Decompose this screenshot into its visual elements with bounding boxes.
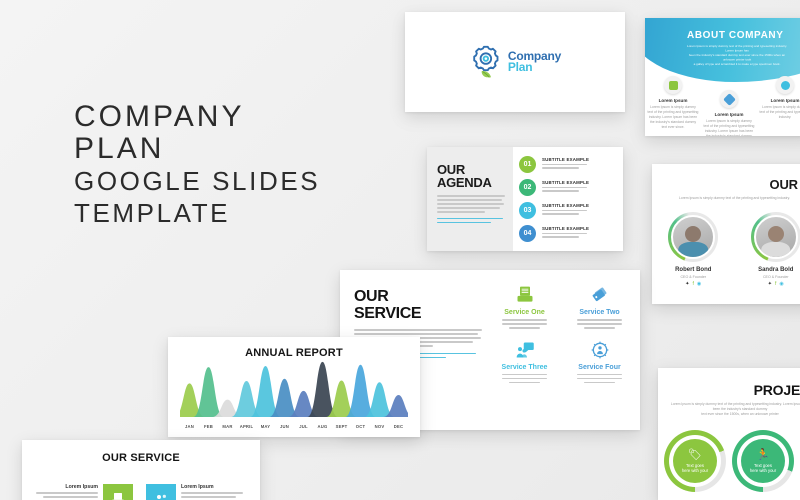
list-item[interactable]: 02 SUBTITLE EXAMPLE: [519, 179, 617, 196]
monitor-icon: [664, 76, 682, 94]
team-title: OUR T: [770, 177, 800, 192]
about-column-heading: Lorem Ipsum: [703, 112, 755, 117]
instagram-icon[interactable]: ◉: [697, 282, 701, 287]
title-line-2: PLAN: [74, 133, 374, 165]
chart-x-label: APRIL: [237, 424, 256, 429]
ring-text-line-2: here with your: [682, 468, 708, 473]
title-line-4: TEMPLATE: [74, 197, 374, 229]
title-line-1: COMPANY: [74, 101, 374, 133]
service-name: Service Four: [565, 364, 634, 371]
tag-icon: 🏷: [688, 450, 702, 461]
about-column[interactable]: Lorem Ipsum Lorem Ipsum is simply dummy …: [759, 76, 800, 136]
team-member-list: Robert Bond CEO & Founder ✦ f ◉ Sandra B…: [652, 212, 800, 287]
presentation-mockup-canvas: COMPANY PLAN GOOGLE SLIDES TEMPLATE Comp…: [0, 0, 800, 500]
agenda-item-subtitle: SUBTITLE EXAMPLE: [542, 157, 589, 162]
list-item[interactable]: 01 SUBTITLE EXAMPLE: [519, 156, 617, 173]
about-column[interactable]: Lorem Ipsum Lorem Ipsum is simply dummy …: [647, 76, 699, 136]
list-item[interactable]: Lorem Ipsum: [146, 484, 243, 500]
ring-text-line-2: here with your: [750, 468, 776, 473]
social-links: ✦ f ◉: [745, 282, 800, 287]
chat-users-icon: [490, 339, 559, 361]
service-bottom-heading: Lorem Ipsum: [36, 484, 98, 490]
gear-person-icon: [565, 339, 634, 361]
service-title-line-1: OUR: [354, 288, 482, 305]
chart-x-label: SEPT: [332, 424, 351, 429]
twitter-icon[interactable]: ✦: [768, 282, 772, 287]
chart-x-label: DEC: [389, 424, 408, 429]
service-name: Service One: [490, 309, 559, 316]
service-bottom-heading: Lorem Ipsum: [181, 484, 243, 490]
list-item[interactable]: Lorem Ipsum: [36, 484, 133, 500]
team-member-role: CEO & Founder: [745, 275, 800, 279]
list-item[interactable]: Service One: [490, 284, 559, 329]
chat-users-icon: [146, 484, 176, 500]
avatar-progress-ring: [668, 212, 718, 262]
team-subtitle: Lorem Ipsum is simply dummy text of the …: [660, 196, 800, 201]
instagram-icon[interactable]: ◉: [779, 282, 783, 287]
logo-line-2: Plan: [508, 62, 561, 73]
agenda-title-line-2: AGENDA: [437, 176, 505, 189]
agenda-body-text: [437, 195, 505, 223]
list-item[interactable]: 🏃 Text goes here with your: [732, 430, 794, 492]
twitter-icon[interactable]: ✦: [685, 282, 689, 287]
project-subtitle: Lorem Ipsum is simply dummy text of the …: [668, 402, 800, 417]
avatar: [754, 215, 798, 259]
avatar: [671, 215, 715, 259]
tag-icon: [720, 90, 738, 108]
chart-x-label: OCT: [351, 424, 370, 429]
service-name: Service Three: [490, 364, 559, 371]
slide-our-agenda[interactable]: OUR AGENDA 01 SUBTITLE EXAMPLE 02: [427, 147, 623, 251]
slide-project[interactable]: PROJEC Lorem Ipsum is simply dummy text …: [658, 368, 800, 500]
team-member-name: Robert Bond: [662, 267, 724, 273]
project-ring-list: 🏷 Text goes here with your 🏃 Text goes h…: [664, 430, 794, 492]
slide-about-company[interactable]: ABOUT COMPANY Lorem Ipsum is simply dumm…: [645, 18, 800, 136]
agenda-item-subtitle: SUBTITLE EXAMPLE: [542, 226, 589, 231]
service-name: Service Two: [565, 309, 634, 316]
printer-icon: [490, 284, 559, 306]
chart-x-label: MAY: [256, 424, 275, 429]
tags-icon: [565, 284, 634, 306]
runner-icon: 🏃: [756, 450, 770, 461]
service-grid: Service One Service Two Service Three: [490, 284, 634, 383]
team-member-name: Sandra Bold: [745, 267, 800, 273]
about-columns: Lorem Ipsum Lorem Ipsum is simply dummy …: [645, 76, 800, 136]
facebook-icon[interactable]: f: [775, 282, 776, 287]
list-item[interactable]: 04 SUBTITLE EXAMPLE: [519, 225, 617, 242]
slide-our-team[interactable]: OUR T Lorem Ipsum is simply dummy text o…: [652, 164, 800, 304]
list-item[interactable]: Robert Bond CEO & Founder ✦ f ◉: [662, 212, 724, 287]
gear-leaf-icon: [469, 45, 503, 79]
agenda-item-list: 01 SUBTITLE EXAMPLE 02 SUBTITLE EXAMPLE …: [519, 156, 617, 248]
about-column[interactable]: Lorem Ipsum Lorem Ipsum is simply dummy …: [703, 90, 755, 136]
agenda-left-panel: OUR AGENDA: [427, 147, 513, 251]
agenda-number-badge: 04: [519, 225, 536, 242]
service-title-line-2: SERVICE: [354, 305, 482, 322]
list-item[interactable]: Service Two: [565, 284, 634, 329]
service-bottom-title: OUR SERVICE: [22, 452, 260, 464]
agenda-number-badge: 01: [519, 156, 536, 173]
agenda-number-badge: 02: [519, 179, 536, 196]
list-item[interactable]: Service Three: [490, 339, 559, 384]
annual-report-chart: [180, 357, 408, 417]
title-line-3: GOOGLE SLIDES: [74, 165, 374, 197]
slide-annual-report[interactable]: ANNUAL REPORT JANFEBMARAPRILMAYJUNJULAUG…: [168, 337, 420, 437]
chart-x-label: AUG: [313, 424, 332, 429]
gear-icon: [776, 76, 794, 94]
slide-our-service-bottom[interactable]: OUR SERVICE Lorem Ipsum Lorem Ipsum: [22, 440, 260, 500]
chart-x-axis-labels: JANFEBMARAPRILMAYJUNJULAUGSEPTOCTNOVDEC: [180, 424, 408, 429]
agenda-item-subtitle: SUBTITLE EXAMPLE: [542, 203, 589, 208]
chart-x-label: FEB: [199, 424, 218, 429]
about-column-heading: Lorem Ipsum: [759, 98, 800, 103]
about-title: ABOUT COMPANY: [687, 30, 784, 41]
team-member-role: CEO & Founder: [662, 275, 724, 279]
chart-x-label: JUL: [294, 424, 313, 429]
chart-x-label: NOV: [370, 424, 389, 429]
avatar-progress-ring: [751, 212, 800, 262]
list-item[interactable]: Service Four: [565, 339, 634, 384]
list-item[interactable]: 🏷 Text goes here with your: [664, 430, 726, 492]
list-item[interactable]: 03 SUBTITLE EXAMPLE: [519, 202, 617, 219]
slide-cover[interactable]: Company Plan: [405, 12, 625, 112]
company-logo: Company Plan: [469, 45, 561, 79]
logo-wordmark: Company Plan: [508, 51, 561, 73]
about-subtitle: Lorem Ipsum is simply dummy text of the …: [681, 43, 793, 68]
facebook-icon[interactable]: f: [692, 282, 693, 287]
social-links: ✦ f ◉: [662, 282, 724, 287]
printer-icon: [103, 484, 133, 500]
agenda-number-badge: 03: [519, 202, 536, 219]
chart-x-label: JAN: [180, 424, 199, 429]
chart-x-label: JUN: [275, 424, 294, 429]
chart-x-label: MAR: [218, 424, 237, 429]
about-column-heading: Lorem Ipsum: [647, 98, 699, 103]
project-title: PROJEC: [754, 382, 800, 398]
agenda-item-subtitle: SUBTITLE EXAMPLE: [542, 180, 589, 185]
page-title: COMPANY PLAN GOOGLE SLIDES TEMPLATE: [74, 101, 374, 229]
list-item[interactable]: Sandra Bold CEO & Founder ✦ f ◉: [745, 212, 800, 287]
